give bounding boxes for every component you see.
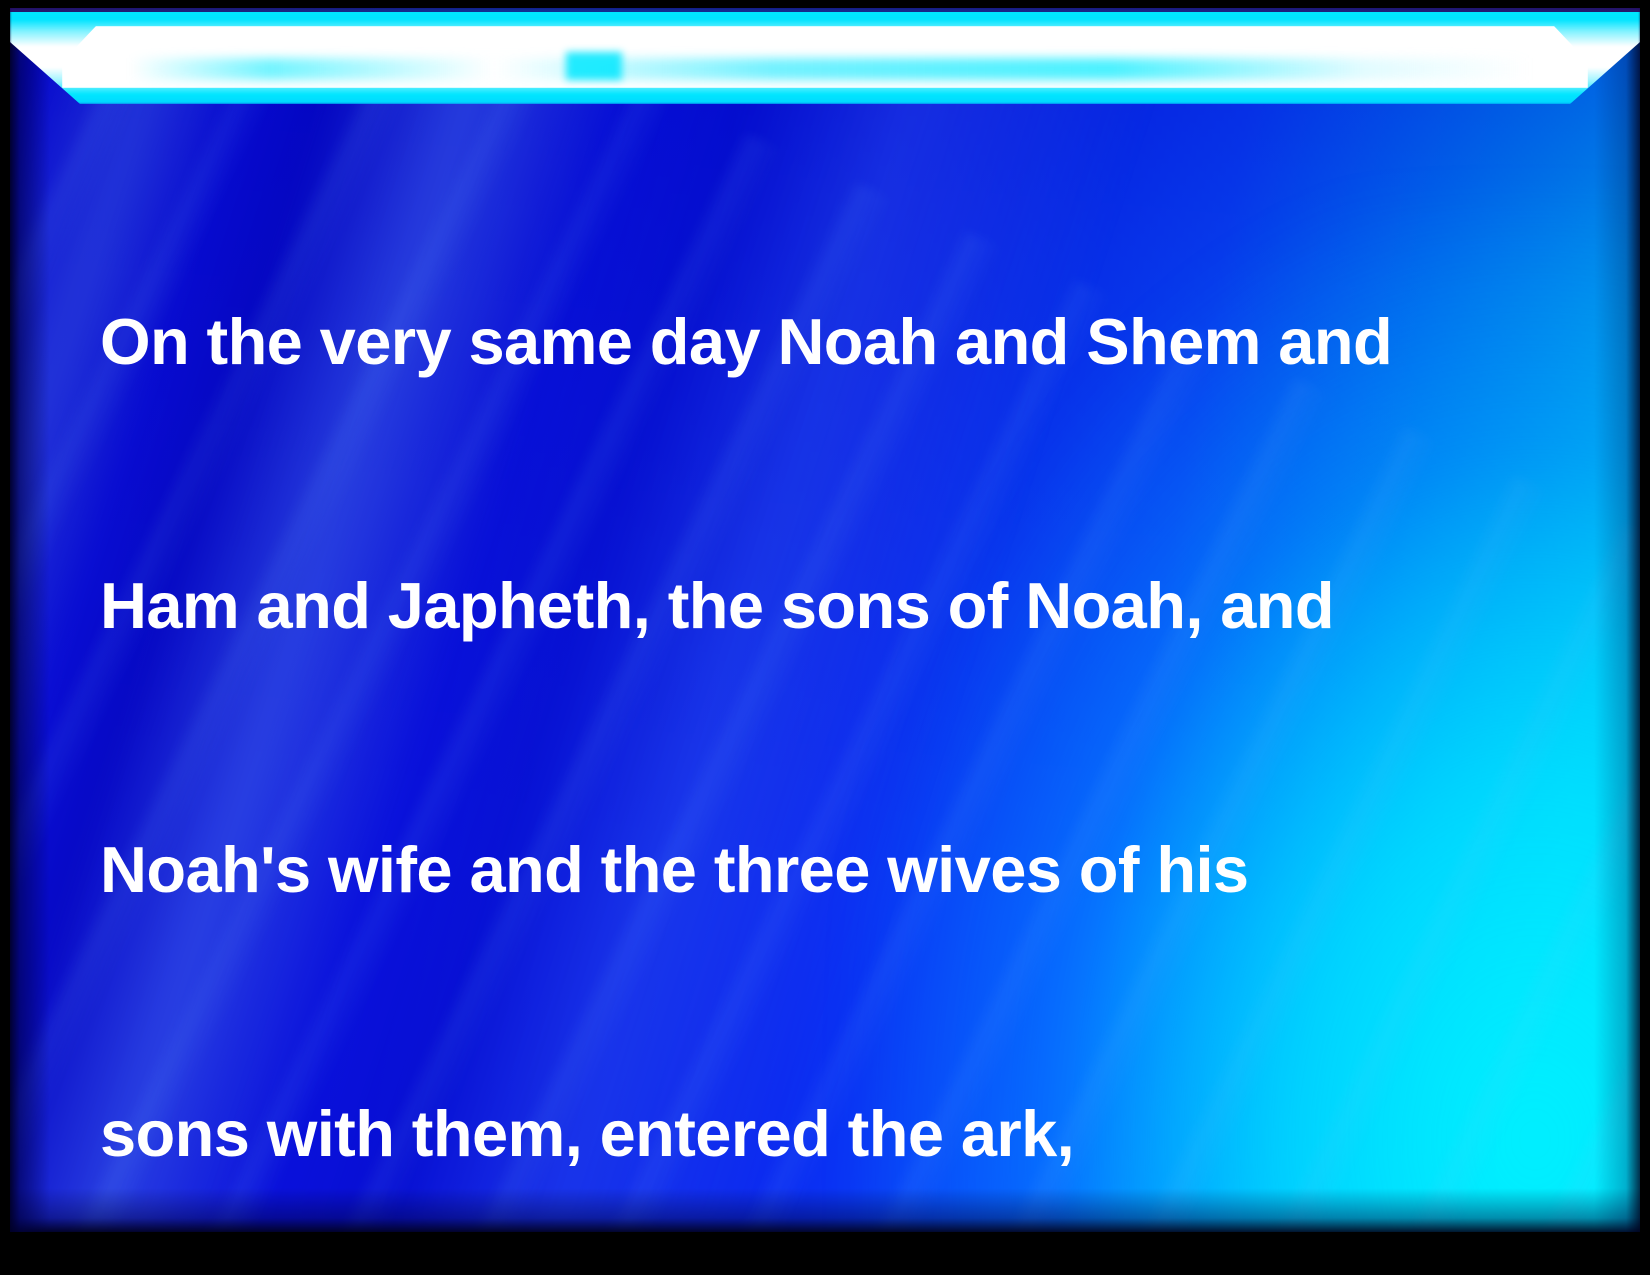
banner-center-notch-icon [566,52,622,80]
verse-line-4: sons with them, entered the ark, [100,1090,1540,1178]
verse-line-3: Noah's wife and the three wives of his [100,826,1540,914]
verse-slide: On the very same day Noah and Shem and H… [0,0,1650,1275]
banner-cyan-sheen [130,58,1530,80]
top-hairline-divider [10,8,1640,12]
slide-canvas: On the very same day Noah and Shem and H… [10,8,1640,1232]
verse-text-block: On the very same day Noah and Shem and H… [100,122,1540,1232]
verse-line-2: Ham and Japheth, the sons of Noah, and [100,562,1540,650]
verse-line-1: On the very same day Noah and Shem and [100,298,1540,386]
